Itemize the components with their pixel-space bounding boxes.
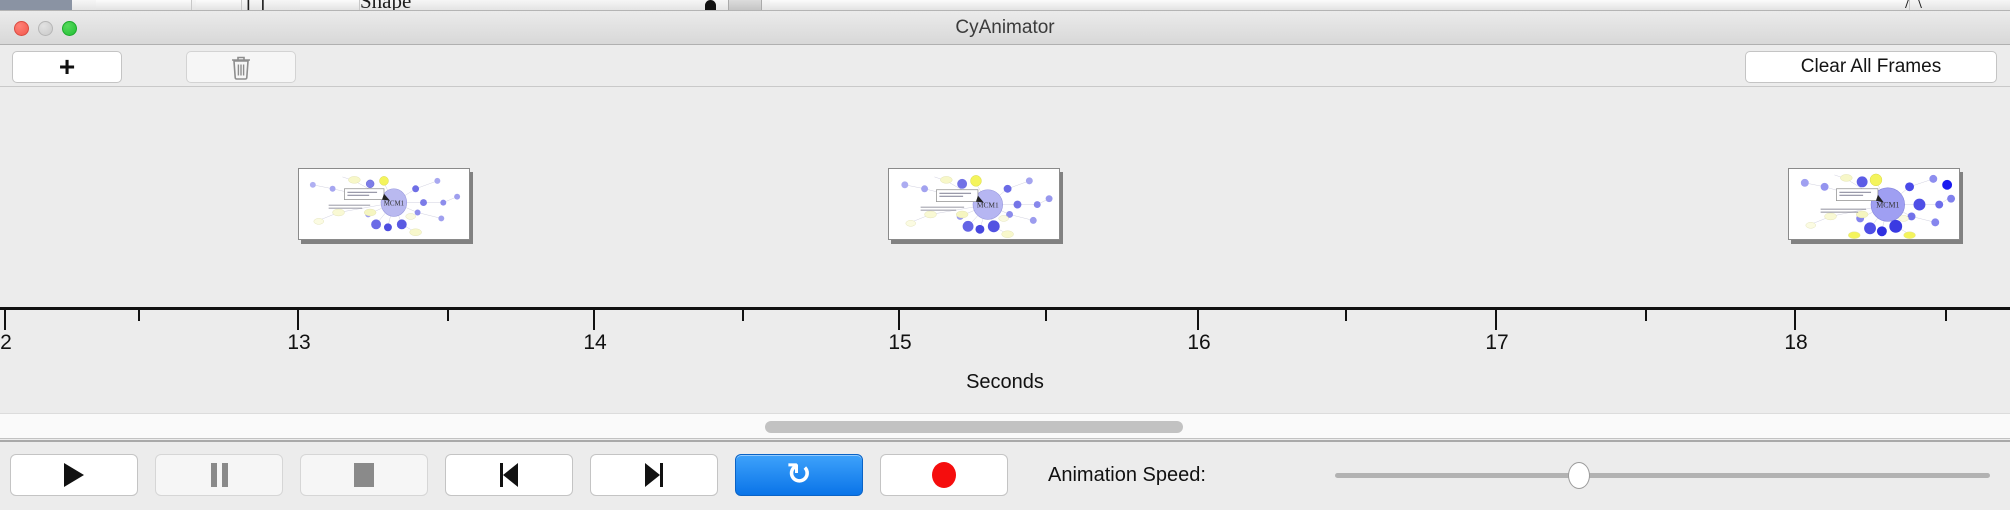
network-preview: MCM1 — [299, 169, 469, 240]
background-button — [728, 0, 762, 11]
axis-tick-major — [1794, 310, 1796, 330]
axis-tick-label: 13 — [287, 331, 310, 355]
axis-tick-major — [593, 310, 595, 330]
hub-node-label: MCM1 — [1876, 201, 1899, 210]
cyanimator-window: [ ] Shape / \ CyAnimator + Clear All Fr — [0, 0, 2010, 510]
animation-speed-label: Animation Speed: — [1048, 454, 1206, 496]
skip-to-start-icon — [500, 463, 518, 487]
timeline-axis — [0, 307, 2010, 310]
skip-to-end-button[interactable] — [590, 454, 718, 496]
record-button[interactable] — [880, 454, 1008, 496]
stop-button[interactable] — [300, 454, 428, 496]
background-glyph: [ ] — [246, 0, 265, 7]
axis-tick-minor — [1945, 310, 1947, 321]
slider-thumb[interactable] — [1568, 462, 1590, 489]
axis-tick-label: 14 — [583, 331, 606, 355]
axis-tick-minor — [742, 310, 744, 321]
delete-frame-button[interactable] — [186, 51, 296, 83]
keyframe-thumbnail[interactable]: MCM1 — [298, 168, 470, 240]
axis-title: Seconds — [0, 371, 2010, 394]
background-marker — [705, 0, 716, 11]
skip-to-start-button[interactable] — [445, 454, 573, 496]
hub-node-label: MCM1 — [384, 201, 405, 208]
stop-icon — [354, 463, 374, 487]
record-icon — [932, 462, 956, 488]
keyframe-thumbnail[interactable]: MCM1 — [888, 168, 1060, 240]
axis-tick-label: 17 — [1485, 331, 1508, 355]
clear-all-frames-button[interactable]: Clear All Frames — [1745, 51, 1997, 83]
play-button[interactable] — [10, 454, 138, 496]
pause-button[interactable] — [155, 454, 283, 496]
background-selected-tab — [0, 0, 72, 11]
skip-to-end-icon — [645, 463, 663, 487]
axis-tick-label: 15 — [888, 331, 911, 355]
pause-icon — [211, 463, 228, 487]
axis-tick-minor — [1345, 310, 1347, 321]
hub-node-label: MCM1 — [977, 201, 999, 210]
axis-tick-major — [1495, 310, 1497, 330]
frame-toolbar: + Clear All Frames — [0, 45, 2010, 87]
timeline-scrollbar[interactable] — [0, 413, 2010, 439]
background-segment — [196, 0, 242, 11]
window-title: CyAnimator — [0, 11, 2010, 45]
loop-icon: ↻ — [786, 460, 811, 490]
background-segment — [770, 0, 1910, 11]
play-icon — [64, 463, 84, 487]
timeline-panel[interactable]: MCM1 — [0, 88, 2010, 413]
axis-tick-major — [1197, 310, 1199, 330]
axis-tick-major — [898, 310, 900, 330]
background-glyph: / \ — [1905, 0, 1922, 7]
add-frame-button[interactable]: + — [12, 51, 122, 83]
loop-button[interactable]: ↻ — [735, 454, 863, 496]
animation-speed-slider[interactable] — [1335, 473, 1990, 478]
keyframe-thumbnail[interactable]: MCM1 — [1788, 168, 1960, 240]
background-window-strip: [ ] Shape / \ — [0, 0, 2010, 11]
trash-icon — [230, 54, 252, 80]
axis-tick-minor — [447, 310, 449, 321]
background-segment — [96, 0, 192, 11]
axis-tick-major — [297, 310, 299, 330]
playback-control-bar: ↻ Animation Speed: — [0, 440, 2010, 510]
axis-tick-minor — [1045, 310, 1047, 321]
axis-tick-label: 16 — [1187, 331, 1210, 355]
axis-tick-label: 18 — [1784, 331, 1807, 355]
plus-icon: + — [59, 53, 75, 81]
background-segment — [300, 0, 360, 11]
network-preview: MCM1 — [1789, 169, 1959, 240]
scrollbar-thumb[interactable] — [765, 421, 1183, 433]
axis-tick-minor — [138, 310, 140, 321]
clear-all-frames-label: Clear All Frames — [1801, 56, 1941, 78]
background-partial-label: Shape — [360, 0, 411, 7]
axis-tick-label: 2 — [0, 331, 12, 355]
axis-tick-major — [4, 310, 6, 330]
axis-tick-minor — [1645, 310, 1647, 321]
titlebar: CyAnimator — [0, 11, 2010, 45]
network-preview: MCM1 — [889, 169, 1059, 240]
